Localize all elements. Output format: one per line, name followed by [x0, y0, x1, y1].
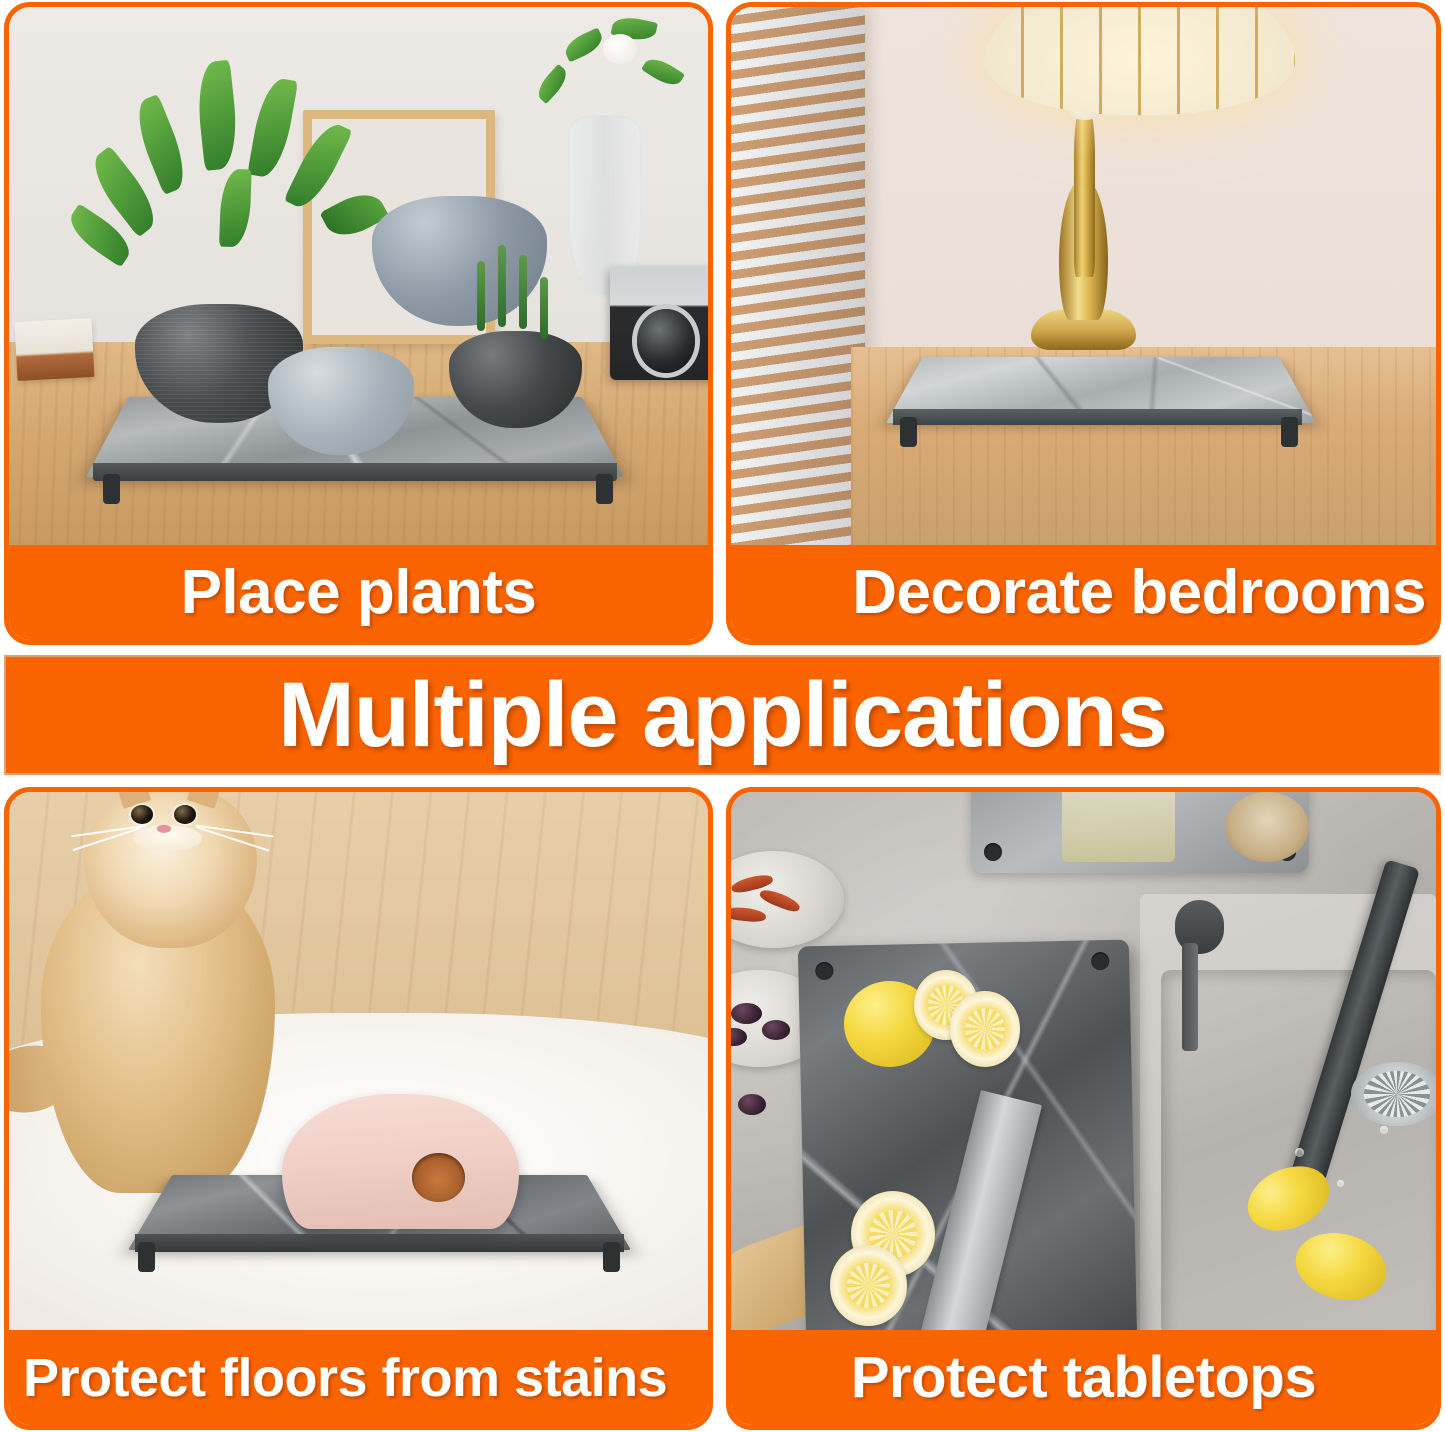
cactus-stem	[519, 255, 527, 329]
lamp-shade	[985, 7, 1295, 115]
cactus-stem	[540, 277, 548, 339]
board-hole	[984, 843, 1002, 861]
banner-multiple-applications: Multiple applications	[4, 655, 1441, 775]
white-rose	[603, 34, 637, 64]
pet-food-bowl	[282, 1094, 520, 1229]
ginger-cat	[23, 792, 331, 1202]
product-feature-collage: Place plants Decorate bedrooms Multiple …	[0, 0, 1445, 1432]
photo-place-plants	[9, 7, 708, 547]
cat-head	[84, 792, 256, 948]
lamp-stem	[1074, 110, 1095, 277]
board-foot	[1281, 417, 1298, 447]
scene-kitchen-counter	[731, 792, 1436, 1331]
board-edge	[93, 463, 617, 480]
cactus-stem	[477, 261, 485, 331]
photo-protect-tabletops	[731, 792, 1436, 1331]
board-foot	[596, 474, 613, 504]
vintage-camera	[610, 266, 708, 379]
water-droplet	[1380, 1126, 1388, 1134]
olive	[731, 1003, 762, 1024]
panel-protect-tabletops: Protect tabletops	[726, 787, 1441, 1430]
lemon-slice	[950, 991, 1021, 1066]
photo-decorate-bedrooms	[731, 7, 1436, 547]
caption-place-plants: Place plants	[9, 545, 708, 640]
cactus-stem	[498, 245, 506, 327]
cat-eye-left	[131, 805, 153, 824]
scene-cat-feeding	[9, 792, 708, 1331]
faucet-lever	[1182, 943, 1198, 1051]
board-foot	[103, 474, 120, 504]
panel-protect-floors: Protect floors from stains	[4, 787, 713, 1430]
scene-bedroom	[731, 7, 1436, 547]
caption-protect-tabletops: Protect tabletops	[731, 1330, 1436, 1425]
board-foot	[138, 1242, 155, 1272]
dried-tomato	[758, 886, 802, 914]
panel-decorate-bedrooms: Decorate bedrooms	[726, 2, 1441, 645]
caption-protect-floors: Protect floors from stains	[9, 1330, 708, 1425]
dish-brush	[1225, 792, 1310, 862]
dried-tomato	[731, 905, 767, 922]
olive	[731, 1028, 747, 1046]
oil-bottle	[1062, 792, 1175, 862]
water-droplet	[1295, 1148, 1304, 1157]
caption-decorate-bedrooms: Decorate bedrooms	[731, 545, 1436, 640]
bowl-opening	[412, 1153, 464, 1202]
board-edge	[135, 1234, 624, 1252]
photo-protect-floors	[9, 792, 708, 1331]
cat-nose	[157, 825, 171, 833]
board-hole	[1091, 952, 1109, 970]
board-foot	[603, 1242, 620, 1272]
panel-place-plants: Place plants	[4, 2, 713, 645]
board-foot	[900, 417, 917, 447]
board-edge	[893, 409, 1302, 425]
books	[14, 318, 94, 381]
board-hole	[814, 962, 832, 980]
olive	[762, 1020, 790, 1039]
striped-bed-skirt	[731, 7, 865, 547]
scene-plants	[9, 7, 708, 547]
lemon-slice	[830, 1245, 908, 1326]
cat-eye-right	[174, 805, 196, 824]
sink-drain	[1351, 1062, 1436, 1127]
